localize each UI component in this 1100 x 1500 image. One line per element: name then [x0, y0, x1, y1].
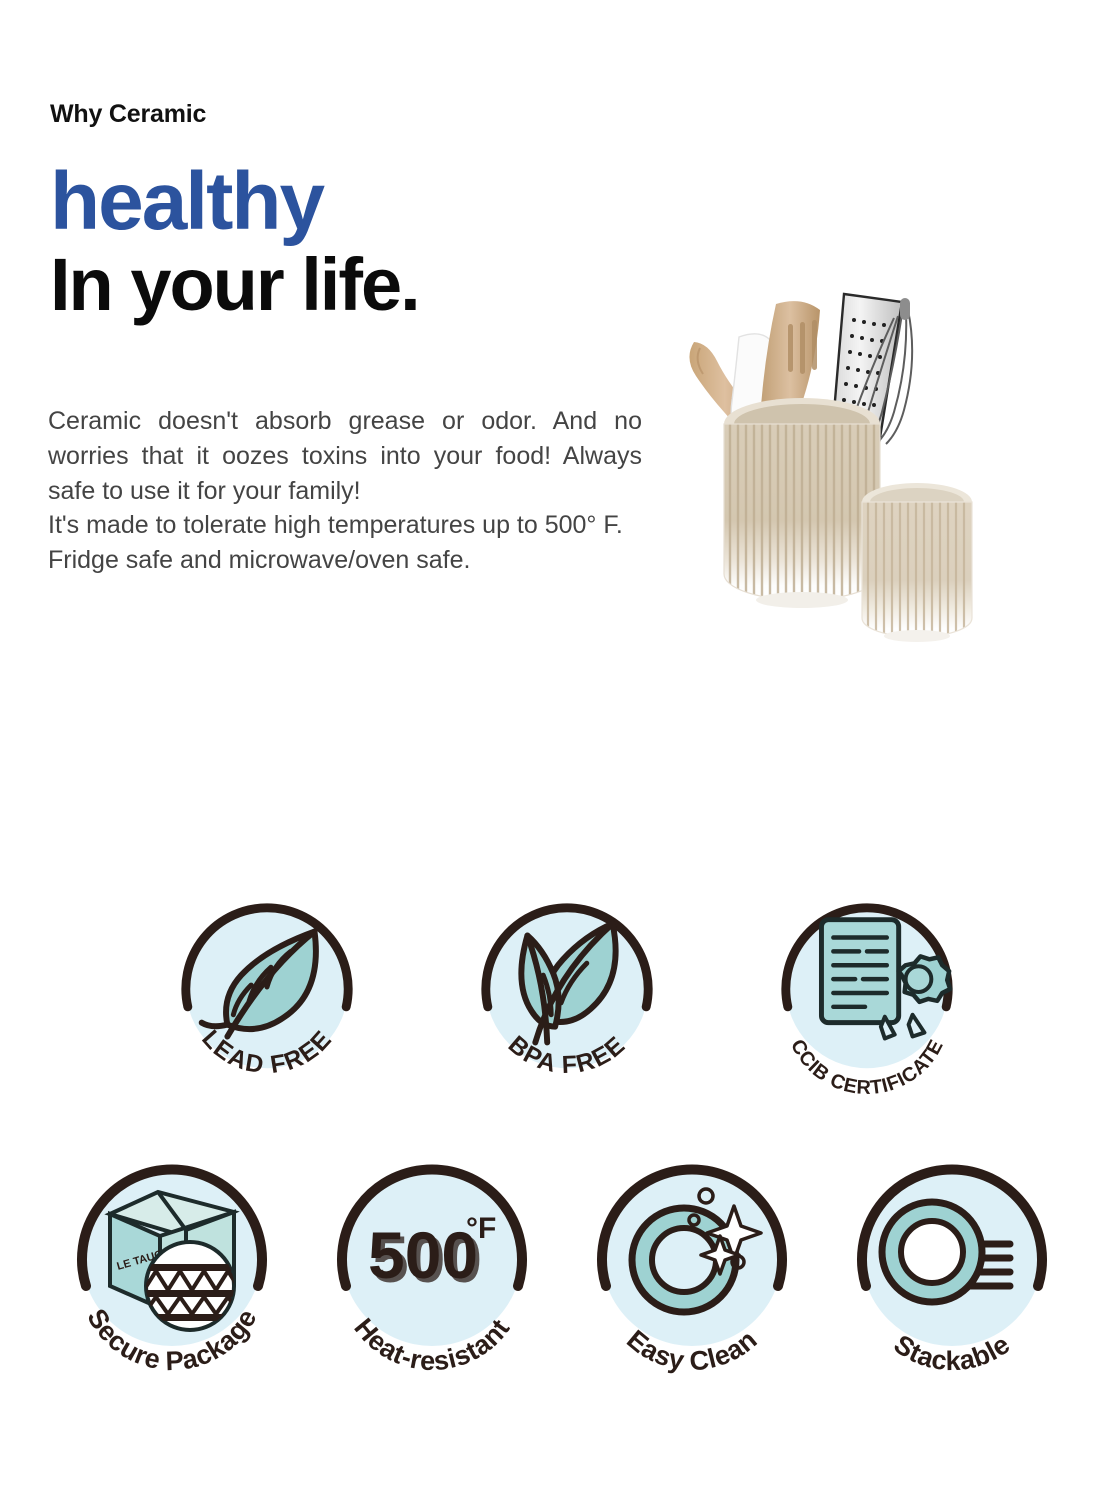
intro-paragraph-2: It's made to tolerate high temperatures … — [48, 508, 642, 578]
headline-second-line: In your life. — [50, 244, 670, 327]
temperature-unit: °F — [466, 1212, 496, 1245]
section-eyebrow: Why Ceramic — [50, 100, 206, 129]
page-title: healthy In your life. — [50, 160, 670, 327]
temperature-value: 500 500 °F — [368, 1212, 496, 1296]
badge-ccib-certificate: CCIB CERTIFICATE — [768, 890, 966, 1088]
badge-secure-package: LE TAUO Secure Package — [66, 1152, 278, 1364]
temperature-number: 500 — [368, 1218, 478, 1292]
intro-body-copy: Ceramic doesn't absorb grease or odor. A… — [48, 404, 642, 578]
large-utensil-crock — [724, 398, 880, 608]
badge-easy-clean: Easy Clean — [586, 1152, 798, 1364]
headline-accent-word: healthy — [50, 160, 670, 244]
badge-bpa-free: BPA FREE — [468, 890, 666, 1088]
small-utensil-crock — [862, 483, 972, 644]
badge-lead-free: LEAD FREE — [168, 890, 366, 1088]
intro-paragraph-1: Ceramic doesn't absorb grease or odor. A… — [48, 404, 642, 508]
badge-heat-resistant: 500 500 °F Heat-resistant — [326, 1152, 538, 1364]
badge-stackable: Stackable — [846, 1152, 1058, 1364]
product-photo — [672, 262, 1006, 682]
